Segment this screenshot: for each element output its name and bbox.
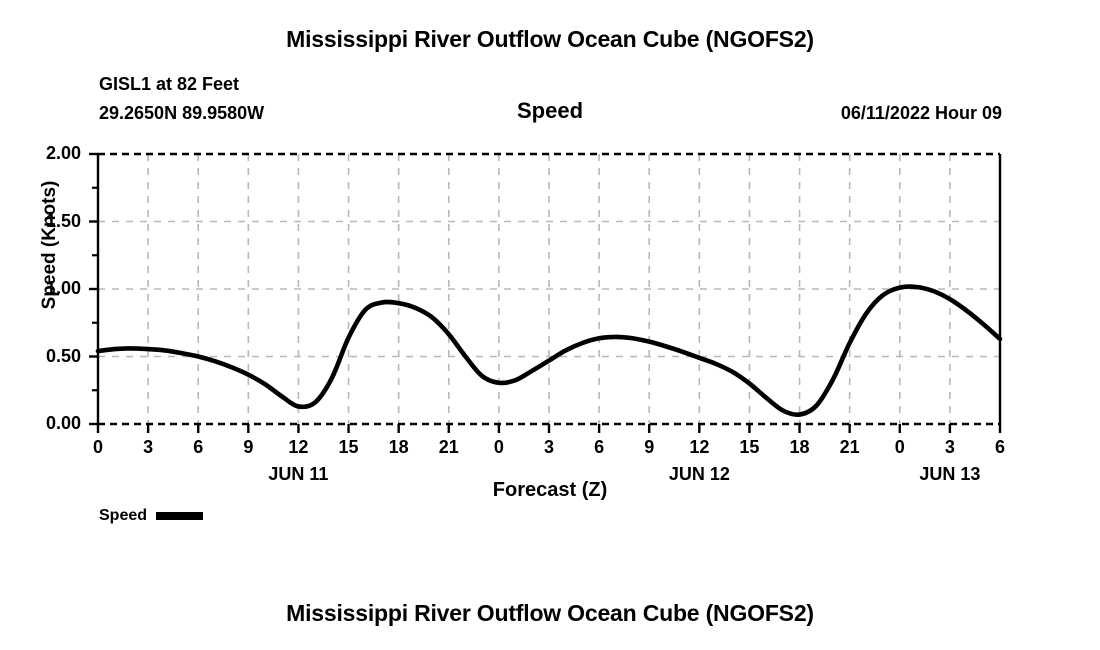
x-tick-label: 6	[178, 437, 218, 458]
x-tick-label: 18	[780, 437, 820, 458]
x-tick-label: 9	[629, 437, 669, 458]
x-tick-label: 3	[930, 437, 970, 458]
legend: Speed	[99, 507, 203, 525]
y-tick-label: 0.00	[11, 413, 81, 434]
footer-title: Mississippi River Outflow Ocean Cube (NG…	[0, 600, 1100, 627]
y-axis-title: Speed (Knots)	[39, 135, 61, 355]
gridlines	[98, 154, 1000, 424]
x-tick-label: 18	[379, 437, 419, 458]
y-tick-label: 2.00	[11, 143, 81, 164]
y-tick-label: 0.50	[11, 346, 81, 367]
x-tick-label: 12	[679, 437, 719, 458]
x-tick-label: 6	[980, 437, 1020, 458]
x-tick-label: 15	[329, 437, 369, 458]
plot-area: Speed (Knots) Forecast (Z) 0.000.501.001…	[0, 0, 1100, 650]
y-tick-label: 1.00	[11, 278, 81, 299]
x-tick-label: 21	[429, 437, 469, 458]
x-tick-label: 21	[830, 437, 870, 458]
speed-line-chart	[0, 0, 1100, 650]
x-tick-label: 0	[880, 437, 920, 458]
y-tick-label: 1.50	[11, 211, 81, 232]
x-tick-label: 3	[128, 437, 168, 458]
x-tick-label: 9	[228, 437, 268, 458]
x-tick-label: 12	[278, 437, 318, 458]
legend-swatch-speed	[156, 512, 203, 520]
x-tick-label: 3	[529, 437, 569, 458]
chart-page: Mississippi River Outflow Ocean Cube (NG…	[0, 0, 1100, 650]
x-tick-label: 6	[579, 437, 619, 458]
day-label: JUN 12	[639, 464, 759, 485]
x-tick-label: 0	[78, 437, 118, 458]
legend-label-speed: Speed	[99, 507, 147, 525]
day-label: JUN 11	[238, 464, 358, 485]
x-tick-label: 15	[729, 437, 769, 458]
axis-ticks	[89, 154, 1000, 433]
day-label: JUN 13	[890, 464, 1010, 485]
x-tick-label: 0	[479, 437, 519, 458]
